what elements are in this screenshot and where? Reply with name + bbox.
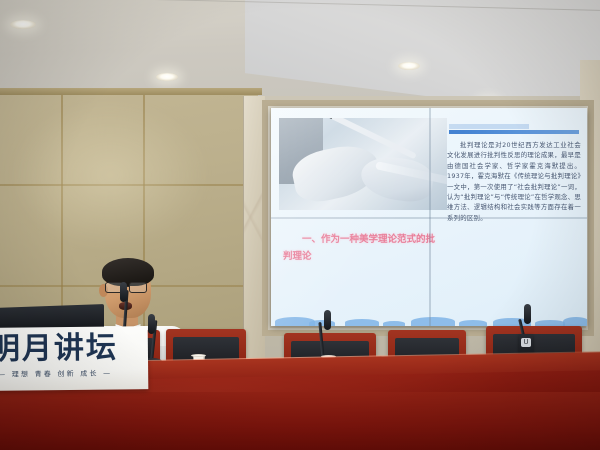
- banner-subtitle: — 理想 青春 创新 成长 —: [0, 368, 138, 379]
- microphone-head: [120, 282, 127, 302]
- microphone-head: [324, 310, 331, 330]
- device-glyph: U: [521, 338, 531, 347]
- banner-title: 明月讲坛: [0, 330, 142, 368]
- downlight-icon: [156, 73, 178, 81]
- presentation-slide: 批判理论是对20世纪西方发达工业社会文化发展进行批判性反思的理论成果，最早是由德…: [271, 108, 587, 326]
- wall-light-glow: [10, 100, 210, 250]
- wall-top-trim: [0, 88, 262, 95]
- lecture-hall-photo: 批判理论是对20世纪西方发达工业社会文化发展进行批判性反思的理论成果，最早是由德…: [0, 0, 600, 450]
- lower-table: [0, 392, 600, 450]
- slide-body-text: 批判理论是对20世纪西方发达工业社会文化发展进行批判性反思的理论成果，最早是由德…: [447, 140, 581, 223]
- projection-screen: 批判理论是对20世纪西方发达工业社会文化发展进行批判性反思的理论成果，最早是由德…: [271, 108, 587, 326]
- slide-accent-bar-light: [449, 124, 529, 129]
- microphone-head: [524, 304, 531, 324]
- slide-heading: 一、作为一种美学理论范式的批判理论: [283, 232, 443, 265]
- podium-banner: 明月讲坛 — 理想 青春 创新 成长 —: [0, 326, 148, 391]
- downlight-icon: [398, 62, 420, 70]
- video-wall-bezel-horizontal: [271, 217, 587, 219]
- slide-photo: [279, 118, 447, 210]
- microphone-head: [148, 314, 155, 334]
- downlight-icon: [10, 20, 36, 29]
- slide-accent-bar: [449, 130, 579, 134]
- paper-cup-lip: [191, 354, 206, 357]
